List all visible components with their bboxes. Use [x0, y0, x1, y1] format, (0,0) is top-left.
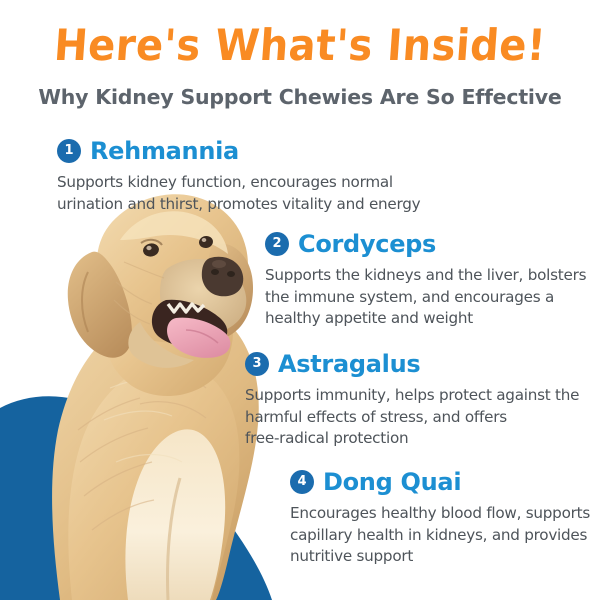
ingredient-number-badge: 1: [57, 139, 81, 163]
ingredient-item-4: 4 Dong Quai Encourages healthy blood flo…: [290, 469, 600, 568]
ingredient-item-3: 3 Astragalus Supports immunity, helps pr…: [245, 351, 595, 450]
ingredient-name: Dong Quai: [323, 469, 461, 495]
ingredient-name: Rehmannia: [90, 138, 239, 164]
infographic-page: Here's What's Inside! Why Kidney Support…: [0, 0, 600, 600]
ingredient-name: Astragalus: [278, 351, 420, 377]
ingredient-number-badge: 3: [245, 352, 269, 376]
ingredient-description: Supports kidney function, encourages nor…: [57, 172, 457, 215]
ingredient-item-2: 2 Cordyceps Supports the kidneys and the…: [265, 231, 595, 330]
header: Here's What's Inside! Why Kidney Support…: [0, 22, 600, 110]
ingredient-description: Supports the kidneys and the liver, bols…: [265, 265, 595, 330]
page-title: Here's What's Inside!: [0, 20, 600, 72]
ingredient-item-1: 1 Rehmannia Supports kidney function, en…: [57, 138, 457, 215]
ingredient-description: Encourages healthy blood flow, supports …: [290, 503, 600, 568]
ingredient-heading: 4 Dong Quai: [290, 469, 600, 495]
ingredient-number-badge: 2: [265, 232, 289, 256]
ingredient-heading: 1 Rehmannia: [57, 138, 457, 164]
ingredient-number-badge: 4: [290, 470, 314, 494]
ingredient-heading: 3 Astragalus: [245, 351, 595, 377]
page-subtitle: Why Kidney Support Chewies Are So Effect…: [0, 84, 600, 110]
ingredient-name: Cordyceps: [298, 231, 436, 257]
ingredient-description: Supports immunity, helps protect against…: [245, 385, 595, 450]
ingredient-heading: 2 Cordyceps: [265, 231, 595, 257]
